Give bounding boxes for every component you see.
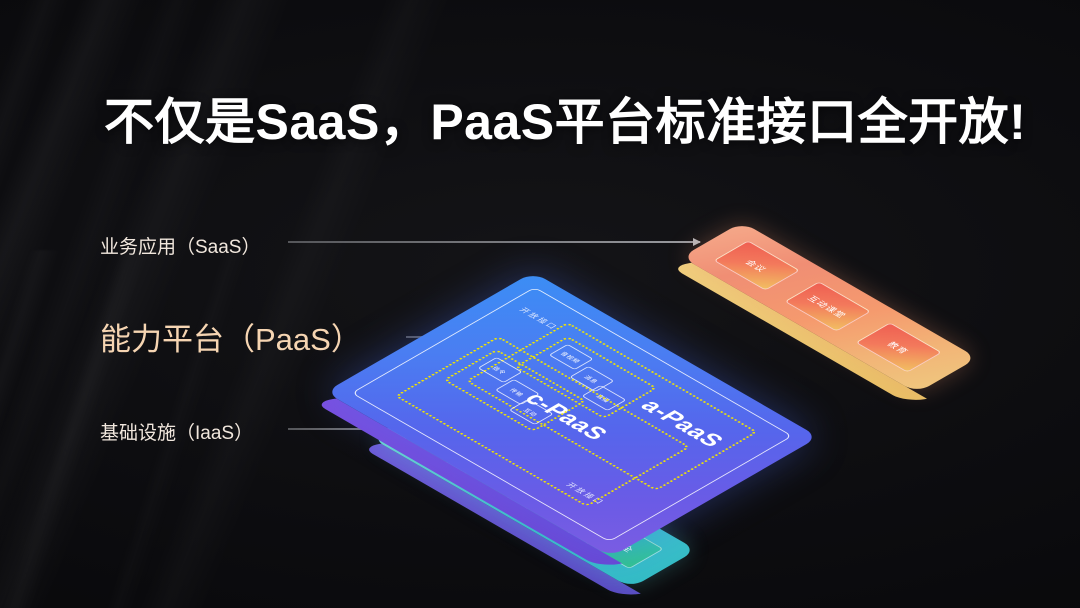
iaas-item-3[interactable]: 安全 [584, 523, 664, 569]
paas-slab-side [313, 398, 622, 567]
iaas-item-label: 存储 [549, 503, 578, 520]
saas-slab-side [670, 263, 927, 402]
layer-label-saas: 业务应用（SaaS） [100, 232, 260, 259]
a-paas-dotted-boundary [465, 322, 758, 491]
saas-item-1[interactable]: 互动课堂 [784, 282, 871, 332]
c-paas-module-2[interactable]: 互动 [509, 399, 554, 425]
iaas-item-label: 计算 [489, 468, 518, 485]
a-paas-module-label: 音视频 [559, 350, 584, 364]
c-paas-label: c-PaaS [517, 389, 613, 445]
c-paas-module-0[interactable]: 信令 [478, 357, 523, 383]
layer-label-iaas: 基础设施（IaaS） [100, 418, 253, 445]
paas-corner-tag-bottom: 开放接口 [563, 481, 607, 507]
c-paas-modules-boundary [443, 349, 587, 432]
c-paas-module-1[interactable]: 传输 [495, 379, 540, 405]
c-paas-module-label: 互动 [522, 406, 541, 417]
a-paas-module-label: 直播 [594, 392, 613, 403]
paas-outer-frame [351, 287, 793, 542]
page-title: 不仅是SaaS，PaaS平台标准接口全开放! [104, 82, 1034, 154]
iaas-item-2[interactable]: 存储 [524, 488, 604, 534]
saas-item-label: 教育 [884, 339, 913, 356]
layer-label-paas: 能力平台（PaaS） [100, 314, 362, 359]
background-light-streaks-secondary [0, 250, 520, 608]
iaas-slab-side [361, 444, 641, 597]
iaas-item-label: 安全 [610, 538, 639, 555]
c-paas-module-label: 传输 [508, 386, 527, 397]
c-paas-dotted-boundary [394, 336, 690, 507]
iaas-item-0[interactable]: 网络 [402, 418, 482, 464]
c-paas-module-label: 信令 [491, 364, 510, 375]
saas-item-2[interactable]: 教育 [855, 323, 942, 373]
a-paas-label: a-PaaS [633, 396, 729, 452]
iaas-item-1[interactable]: 计算 [463, 453, 543, 499]
a-paas-module-1[interactable]: 消息 [569, 366, 614, 392]
arrow-to-saas-icon [288, 241, 700, 243]
saas-item-label: 会议 [742, 257, 771, 274]
paas-slab-top: 开放接口 开放接口 a-PaaS 音视频 消息 直播 c-PaaS 信令 传输 … [325, 272, 819, 557]
a-paas-module-2[interactable]: 直播 [581, 385, 626, 411]
saas-item-0[interactable]: 会议 [713, 241, 800, 291]
a-paas-module-label: 消息 [582, 373, 601, 384]
a-paas-modules-boundary [514, 336, 658, 419]
a-paas-module-0[interactable]: 音视频 [549, 344, 594, 370]
paas-corner-tag-top: 开放接口 [517, 306, 561, 332]
arrow-to-paas-icon [406, 336, 536, 338]
iaas-item-label: 网络 [428, 433, 457, 450]
saas-item-label: 互动课堂 [805, 293, 851, 320]
saas-slab-top: 会议 互动课堂 教育 [681, 222, 977, 393]
arrow-to-iaas-icon [288, 428, 440, 430]
